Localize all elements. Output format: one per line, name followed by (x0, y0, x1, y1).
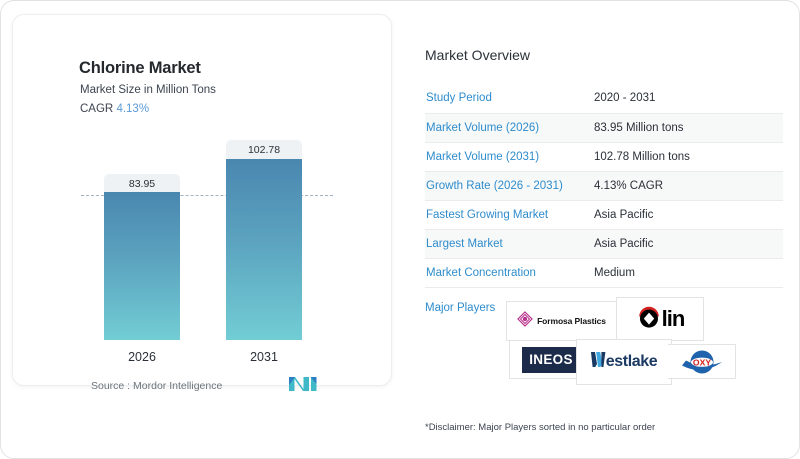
table-row: Largest Market Asia Pacific (425, 229, 783, 258)
row-value: 83.95 Million tons (586, 113, 783, 142)
market-overview-panel: Market Overview Study Period 2020 - 2031… (425, 47, 785, 314)
row-value: Medium (586, 258, 783, 287)
logo-cell-formosa-plastics: Formosa Plastics (506, 301, 616, 341)
row-value: 2020 - 2031 (586, 84, 783, 113)
row-key: Largest Market (425, 229, 586, 258)
logo-cell-oxy: OXY (668, 344, 736, 379)
row-value: Asia Pacific (586, 229, 783, 258)
table-row: Market Concentration Medium (425, 258, 783, 287)
row-key: Market Volume (2026) (425, 113, 586, 142)
row-key: Growth Rate (2026 - 2031) (425, 171, 586, 200)
source-text: Source : Mordor Intelligence (91, 380, 222, 392)
bar-value-label-2031: 102.78 (226, 140, 302, 161)
mordor-intelligence-logo (289, 376, 319, 397)
westlake-w-icon (591, 351, 606, 373)
bar-chart-plot: 83.95 2026 102.78 2031 (13, 15, 393, 387)
row-key: Market Concentration (425, 258, 586, 287)
table-row: Fastest Growing Market Asia Pacific (425, 200, 783, 229)
olin-o-icon (636, 304, 662, 335)
svg-text:OXY: OXY (692, 357, 710, 367)
overview-title: Market Overview (425, 47, 785, 63)
oxy-logo-icon: OXY (680, 349, 724, 375)
table-row: Study Period 2020 - 2031 (425, 84, 783, 113)
overview-table: Study Period 2020 - 2031 Market Volume (… (425, 84, 783, 288)
ineos-wordmark: INEOS (529, 352, 573, 367)
row-key: Fastest Growing Market (425, 200, 586, 229)
major-players-logo-grid: Formosa Plastics lin INEOS (506, 297, 741, 387)
disclaimer-text: *Disclaimer: Major Players sorted in no … (425, 422, 655, 433)
bar-2026[interactable] (104, 192, 180, 340)
bar-2031[interactable] (226, 159, 302, 340)
olin-wordmark: lin (662, 308, 685, 330)
report-infographic-page: Chlorine Market Market Size in Million T… (0, 0, 800, 459)
table-row: Market Volume (2031) 102.78 Million tons (425, 142, 783, 171)
row-value: 4.13% CAGR (586, 171, 783, 200)
x-axis-label-2026: 2026 (104, 350, 180, 364)
logo-cell-olin: lin (616, 297, 704, 341)
row-key: Study Period (425, 84, 586, 113)
chart-card: Chlorine Market Market Size in Million T… (12, 14, 392, 386)
x-axis-label-2031: 2031 (226, 350, 302, 364)
row-value: Asia Pacific (586, 200, 783, 229)
formosa-plastics-wordmark: Formosa Plastics (537, 316, 606, 326)
logo-cell-westlake: estlake (576, 339, 672, 385)
row-value: 102.78 Million tons (586, 142, 783, 171)
row-key: Market Volume (2031) (425, 142, 586, 171)
table-row: Market Volume (2026) 83.95 Million tons (425, 113, 783, 142)
table-row: Growth Rate (2026 - 2031) 4.13% CAGR (425, 171, 783, 200)
westlake-wordmark: estlake (606, 353, 657, 371)
formosa-diamond-icon (517, 311, 533, 332)
